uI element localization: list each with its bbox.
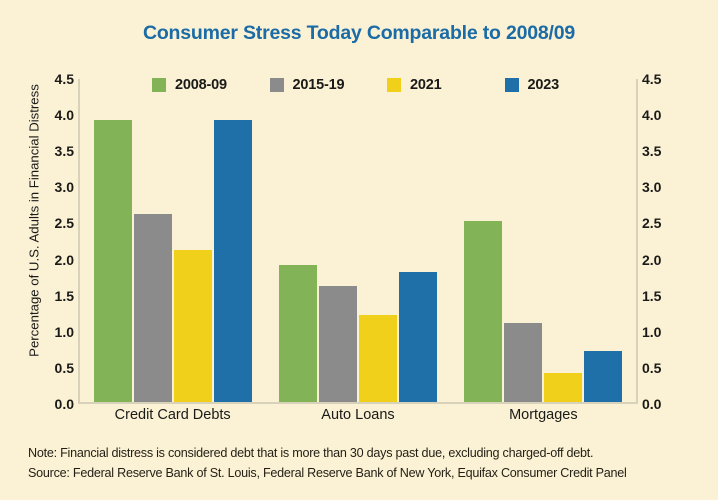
bar-slot [134, 79, 172, 402]
bar-slot [174, 79, 212, 402]
y-axis-title: Percentage of U.S. Adults in Financial D… [27, 71, 42, 371]
bar-slot [94, 79, 132, 402]
y-axis-tick-label: 0.0 [30, 397, 74, 411]
bar-slot [214, 79, 252, 402]
bar-slot [359, 79, 397, 402]
chart-footnote-line: Source: Federal Reserve Bank of St. Loui… [28, 464, 698, 484]
bar[interactable] [584, 351, 622, 402]
y-axis-tick-label: 3.0 [642, 180, 686, 194]
bar[interactable] [279, 265, 317, 402]
bar-slot [584, 79, 622, 402]
bar[interactable] [399, 272, 437, 402]
bar-slot [399, 79, 437, 402]
x-axis-category-label: Auto Loans [265, 407, 450, 423]
bar[interactable] [504, 323, 542, 402]
bar-group [265, 79, 450, 402]
bar-slot [319, 79, 357, 402]
y-axis-tick-label: 0.0 [642, 397, 686, 411]
bar-groups [80, 79, 636, 402]
x-axis-category-labels: Credit Card DebtsAuto LoansMortgages [80, 407, 636, 423]
bar[interactable] [134, 214, 172, 402]
y-axis-tick-label: 1.0 [642, 325, 686, 339]
y-axis-tick-label: 0.5 [642, 361, 686, 375]
y-axis-tick-label: 4.5 [642, 72, 686, 86]
y-axis-right-ticks: 4.54.03.53.02.52.01.51.00.50.0 [642, 79, 686, 404]
bar-slot [504, 79, 542, 402]
bar[interactable] [174, 250, 212, 402]
bar[interactable] [359, 315, 397, 402]
chart-footnotes: Note: Financial distress is considered d… [28, 444, 698, 483]
bar-slot [279, 79, 317, 402]
bar[interactable] [544, 373, 582, 402]
bar[interactable] [214, 120, 252, 402]
y-axis-tick-label: 3.5 [642, 144, 686, 158]
x-axis-category-label: Mortgages [451, 407, 636, 423]
x-axis-category-label: Credit Card Debts [80, 407, 265, 423]
chart-footnote-line: Note: Financial distress is considered d… [28, 444, 698, 464]
chart-container: Consumer Stress Today Comparable to 2008… [0, 0, 718, 500]
chart-title: Consumer Stress Today Comparable to 2008… [0, 22, 718, 45]
bar[interactable] [94, 120, 132, 402]
bar-slot [464, 79, 502, 402]
bar[interactable] [464, 221, 502, 402]
y-axis-tick-label: 1.5 [642, 289, 686, 303]
y-axis-tick-label: 2.0 [642, 253, 686, 267]
bar-group [80, 79, 265, 402]
y-axis-tick-label: 4.0 [642, 108, 686, 122]
y-axis-tick-label: 2.5 [642, 216, 686, 230]
bar[interactable] [319, 286, 357, 402]
bar-slot [544, 79, 582, 402]
bar-group [451, 79, 636, 402]
